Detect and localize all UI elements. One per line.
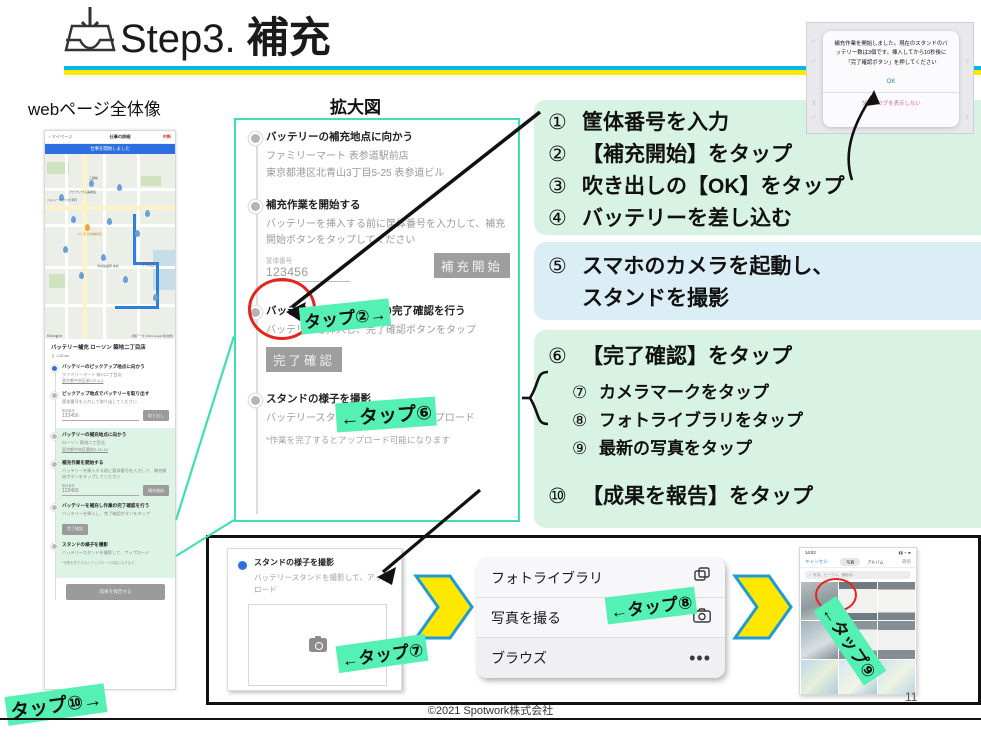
phone-step-2[interactable]: ピックアップ地点でバッテリーを取り出す 筐体番号を入力して取り出してください 筐… bbox=[62, 391, 169, 421]
complete-confirm-button[interactable]: 完了確認 bbox=[62, 524, 88, 535]
case-number-input[interactable]: 123456 bbox=[62, 413, 139, 421]
menu-item-label: ブラウズ bbox=[491, 648, 547, 668]
picker-select-button[interactable]: 選択 bbox=[902, 559, 911, 565]
complete-confirm-button[interactable]: 完了確認 bbox=[266, 347, 342, 372]
instruction-item-5: ⑤ スマホのカメラを起動し、 bbox=[548, 250, 833, 280]
step-dot-icon bbox=[51, 433, 58, 440]
step-desc: バッテリーを挿入する前に筐体番号を入力して、補充開始ボタンをタップしてください bbox=[266, 217, 506, 249]
step-address[interactable]: 東京都中央区築地2-15-13 bbox=[62, 447, 169, 453]
phone-nav-action[interactable]: 中断 bbox=[163, 134, 171, 140]
step-dot-icon bbox=[249, 132, 262, 145]
dialog-screenshot: バ バ ス バ フ ス 補充作業を開始しました。現在のスタンドのバッテリー数は3… bbox=[806, 22, 974, 134]
phone-step-1[interactable]: バッテリーのピックアップ地点に向かう ファミリーマート 新川二丁目店 東京都中央… bbox=[62, 364, 169, 384]
status-time: 14:02 bbox=[805, 550, 816, 555]
step-dot-icon bbox=[51, 392, 58, 399]
footer-divider bbox=[0, 718, 981, 720]
phone-navbar: ‹ マイページ 仕事の詳細 中断 bbox=[45, 131, 175, 144]
phone-job-body: バッテリー補充 ローソン 築地二丁目店 🚶 2.62 km バッテリーのピックア… bbox=[45, 339, 175, 600]
caption-web-overview: webページ全体像 bbox=[28, 95, 161, 120]
google-logo: Google bbox=[47, 333, 63, 338]
slide-page: Step3. 補充 webページ全体像 拡大図 ‹ マイページ 仕事の詳細 中断… bbox=[0, 0, 981, 739]
item-text: 【成果を報告】をタップ bbox=[582, 480, 813, 510]
map-label: つじ半 日本橋本店 bbox=[77, 232, 102, 236]
phone-step-3[interactable]: バッテリーの補充地点に向かう ローソン 築地二丁目店 東京都中央区築地2-15-… bbox=[62, 432, 169, 452]
item-text: 最新の写真をタップ bbox=[599, 434, 752, 459]
instruction-item-7: ⑦ カメラマークをタップ bbox=[572, 378, 769, 403]
item-text: スマホのカメラを起動し、 bbox=[582, 250, 833, 280]
step-dot-icon bbox=[249, 200, 262, 213]
step-title: スタンドの様子を撮影 bbox=[62, 542, 169, 548]
picker-tab-albums[interactable]: アルバム bbox=[862, 558, 890, 566]
item-text: 【完了確認】をタップ bbox=[582, 340, 792, 370]
picker-toolbar: キャンセル 写真 アルバム 選択 bbox=[800, 557, 916, 568]
item-text: フォトライブラリをタップ bbox=[599, 406, 803, 431]
map-label: 清水建設所 本社 bbox=[97, 264, 119, 268]
step-desc: 筐体番号を入力して取り出してください bbox=[62, 399, 169, 405]
step-title: ピックアップ地点でバッテリーを取り出す bbox=[62, 391, 169, 397]
start-refill-button[interactable]: 補充開始 bbox=[434, 253, 510, 278]
photo-thumbnail[interactable] bbox=[878, 582, 915, 620]
phone-nav-title: 仕事の詳細 bbox=[77, 134, 162, 140]
item-number: ⑩ bbox=[548, 484, 582, 509]
item-text: 筐体番号を入力 bbox=[582, 106, 729, 136]
picker-tab-photos[interactable]: 写真 bbox=[840, 558, 860, 566]
item-number: ⑧ bbox=[572, 411, 599, 431]
step-title: バッテリーを補充し作業の完了確認を行う bbox=[62, 503, 169, 509]
step-dot-icon bbox=[249, 394, 262, 407]
phone-step-4[interactable]: 補充作業を開始する バッテリーを挿入する前に筐体番号を入力して、補充開始ボタンを… bbox=[62, 460, 169, 497]
inbox-download-icon bbox=[62, 6, 118, 56]
item-number: ⑨ bbox=[572, 439, 599, 459]
action-sheet-browse[interactable]: ブラウズ ••• bbox=[477, 638, 725, 678]
map-attribution: 地図データ ©2021 Google 利用規約 bbox=[131, 334, 173, 338]
step-dot-icon bbox=[51, 461, 58, 468]
photo-thumbnail[interactable] bbox=[878, 621, 915, 659]
dialog-dismiss-button[interactable]: ダイアログを表示しない bbox=[832, 99, 950, 107]
step-title: バッテリーのピックアップ地点に向かう bbox=[62, 364, 169, 370]
enlarged-step-2[interactable]: 補充作業を開始する バッテリーを挿入する前に筐体番号を入力して、補充開始ボタンを… bbox=[266, 198, 506, 282]
menu-item-label: 写真を撮る bbox=[491, 608, 561, 628]
footer-copyright: ©2021 Spotwork株式会社 bbox=[0, 702, 981, 718]
ghost-text: バ bbox=[811, 39, 815, 45]
ghost-text: ス bbox=[965, 115, 969, 121]
map-label: 中央区 bbox=[141, 262, 155, 268]
step-title: 補充作業を開始する bbox=[266, 198, 506, 214]
zoom-connector-top bbox=[176, 336, 234, 520]
ellipsis-icon: ••• bbox=[689, 648, 711, 669]
item-text: 【補充開始】をタップ bbox=[582, 138, 792, 168]
step-note: *作業を完了するとアップロード可能になります bbox=[266, 434, 506, 446]
dialog-ok-button[interactable]: OK bbox=[832, 79, 950, 85]
instruction-item-3: ③ 吹き出しの【OK】をタップ bbox=[548, 170, 845, 200]
photo-upload-card: スタンドの様子を撮影 バッテリースタンドを撮影して、アップロード bbox=[227, 548, 402, 691]
step-note: *作業を完了するとアップロード可能になります bbox=[62, 560, 169, 565]
step-desc: バッテリーを挿入し、完了確認ボタンをタップ bbox=[62, 511, 169, 517]
dialog-message: 補充作業を開始しました。現在のスタンドのバッテリー数は3個です。挿入してから10… bbox=[832, 40, 950, 68]
status-bar: 14:02 ▮▮ ⌁ ▰ bbox=[800, 548, 916, 557]
menu-item-label: フォトライブラリ bbox=[491, 568, 603, 588]
step-desc: バッテリースタンドを撮影して、アップロード bbox=[62, 550, 169, 556]
step-label: Step3. bbox=[120, 17, 236, 61]
step-desc-line1: ファミリーマート 表参道駅前店 bbox=[266, 149, 506, 165]
item-text: バッテリーを差し込む bbox=[582, 202, 792, 232]
phone-step-5[interactable]: バッテリーを補充し作業の完了確認を行う バッテリーを挿入し、完了確認ボタンをタッ… bbox=[62, 503, 169, 535]
step-dot-icon bbox=[51, 365, 58, 372]
ghost-text: バ bbox=[811, 59, 815, 65]
step-dot-icon bbox=[51, 543, 58, 550]
item-number: ① bbox=[548, 110, 582, 135]
map-label: ヘルシーハウス大手町 bbox=[47, 198, 77, 202]
instruction-item-6: ⑥ 【完了確認】をタップ bbox=[548, 340, 792, 370]
phone-timeline: バッテリーのピックアップ地点に向かう ファミリーマート 新川二丁目店 東京都中央… bbox=[51, 364, 169, 600]
phone-mockup: ‹ マイページ 仕事の詳細 中断 仕事を開始しました bbox=[44, 130, 176, 690]
ghost-text: フ bbox=[965, 59, 969, 65]
phone-back-link[interactable]: ‹ マイページ bbox=[49, 134, 72, 140]
page-title: Step3. 補充 bbox=[120, 4, 331, 65]
status-indicators: ▮▮ ⌁ ▰ bbox=[898, 550, 911, 555]
start-refill-button[interactable]: 補充開始 bbox=[143, 485, 169, 496]
phone-job-title: バッテリー補充 ローソン 築地二丁目店 bbox=[51, 343, 169, 351]
map-label: 三越前 bbox=[89, 176, 98, 180]
map-view[interactable]: 三越前 アクアリウム美術館 ヘルシーハウス大手町 つじ半 日本橋本店 清水建設所… bbox=[45, 154, 175, 339]
item-text: 吹き出しの【OK】をタップ bbox=[582, 170, 845, 200]
item-number: ④ bbox=[548, 206, 582, 231]
step-title: バッテリーの補充地点に向かう bbox=[266, 130, 506, 146]
item-text: カメラマークをタップ bbox=[599, 378, 769, 403]
item-number: ③ bbox=[548, 174, 582, 199]
step-address[interactable]: 東京都中央区新川2-6-2 bbox=[62, 378, 169, 384]
item-number: ⑤ bbox=[548, 254, 582, 279]
item-number: ② bbox=[548, 142, 582, 167]
step-title: 補充作業を開始する bbox=[62, 460, 169, 466]
step-dot-icon bbox=[51, 504, 58, 511]
search-icon: ⌕ bbox=[809, 573, 811, 577]
camera-icon[interactable] bbox=[309, 638, 327, 652]
step-dot-icon bbox=[238, 561, 247, 570]
picker-search-input[interactable]: ⌕ 写真、ピープル、撮影地... bbox=[805, 571, 911, 579]
picker-cancel-button[interactable]: キャンセル bbox=[805, 559, 828, 565]
instruction-item-1: ① 筐体番号を入力 bbox=[548, 106, 729, 136]
instruction-item-4: ④ バッテリーを差し込む bbox=[548, 202, 792, 232]
ios-alert-dialog: 補充作業を開始しました。現在のスタンドのバッテリー数は3個です。挿入してから10… bbox=[823, 31, 959, 127]
ghost-text: バ bbox=[811, 115, 815, 121]
instruction-item-9: ⑨ 最新の写真をタップ bbox=[572, 434, 752, 459]
card-desc: バッテリースタンドを撮影して、アップロード bbox=[254, 572, 391, 596]
instruction-item-8: ⑧ フォトライブラリをタップ bbox=[572, 406, 803, 431]
step-title: バッテリーの補充地点に向かう bbox=[62, 432, 169, 438]
step-desc-line2: 東京都港区北青山3丁目5-25 表参道ビル bbox=[266, 166, 506, 182]
instruction-item-10: ⑩ 【成果を報告】をタップ bbox=[548, 480, 813, 510]
item-number: ⑦ bbox=[572, 383, 599, 403]
step-desc: バッテリーを挿入する前に筐体番号を入力して、補充開始ボタンをタップしてください bbox=[62, 468, 169, 481]
phone-distance: 🚶 2.62 km bbox=[51, 354, 169, 358]
phone-status-banner: 仕事を開始しました bbox=[45, 144, 175, 154]
ghost-text: ス bbox=[811, 99, 817, 107]
item-text: スタンドを撮影 bbox=[582, 282, 729, 312]
instruction-item-5b: スタンドを撮影 bbox=[582, 282, 729, 312]
map-label: アクアリウム美術館 bbox=[69, 190, 96, 194]
item-number: ⑥ bbox=[548, 344, 582, 369]
report-result-button[interactable]: 成果を報告する bbox=[66, 584, 165, 600]
ios-action-sheet: フォトライブラリ 写真を撮る ブラウズ ••• bbox=[477, 558, 725, 678]
instruction-item-2: ② 【補充開始】をタップ bbox=[548, 138, 792, 168]
page-number: 11 bbox=[905, 690, 917, 704]
enlarged-step-1[interactable]: バッテリーの補充地点に向かう ファミリーマート 表参道駅前店 東京都港区北青山3… bbox=[266, 130, 506, 182]
phone-step-6[interactable]: スタンドの様子を撮影 バッテリースタンドを撮影して、アップロード *作業を完了す… bbox=[62, 542, 169, 564]
pickup-button[interactable]: 取り出し bbox=[143, 410, 169, 421]
photos-icon bbox=[694, 567, 711, 589]
case-number-input[interactable]: 123456 bbox=[62, 488, 139, 496]
photo-thumbnail[interactable] bbox=[801, 660, 838, 695]
step-keyword: 補充 bbox=[247, 14, 331, 61]
search-placeholder: 写真、ピープル、撮影地... bbox=[813, 573, 855, 578]
card-title: スタンドの様子を撮影 bbox=[254, 557, 391, 568]
caption-enlarged: 拡大図 bbox=[330, 93, 381, 118]
dialog-separator bbox=[823, 92, 959, 93]
